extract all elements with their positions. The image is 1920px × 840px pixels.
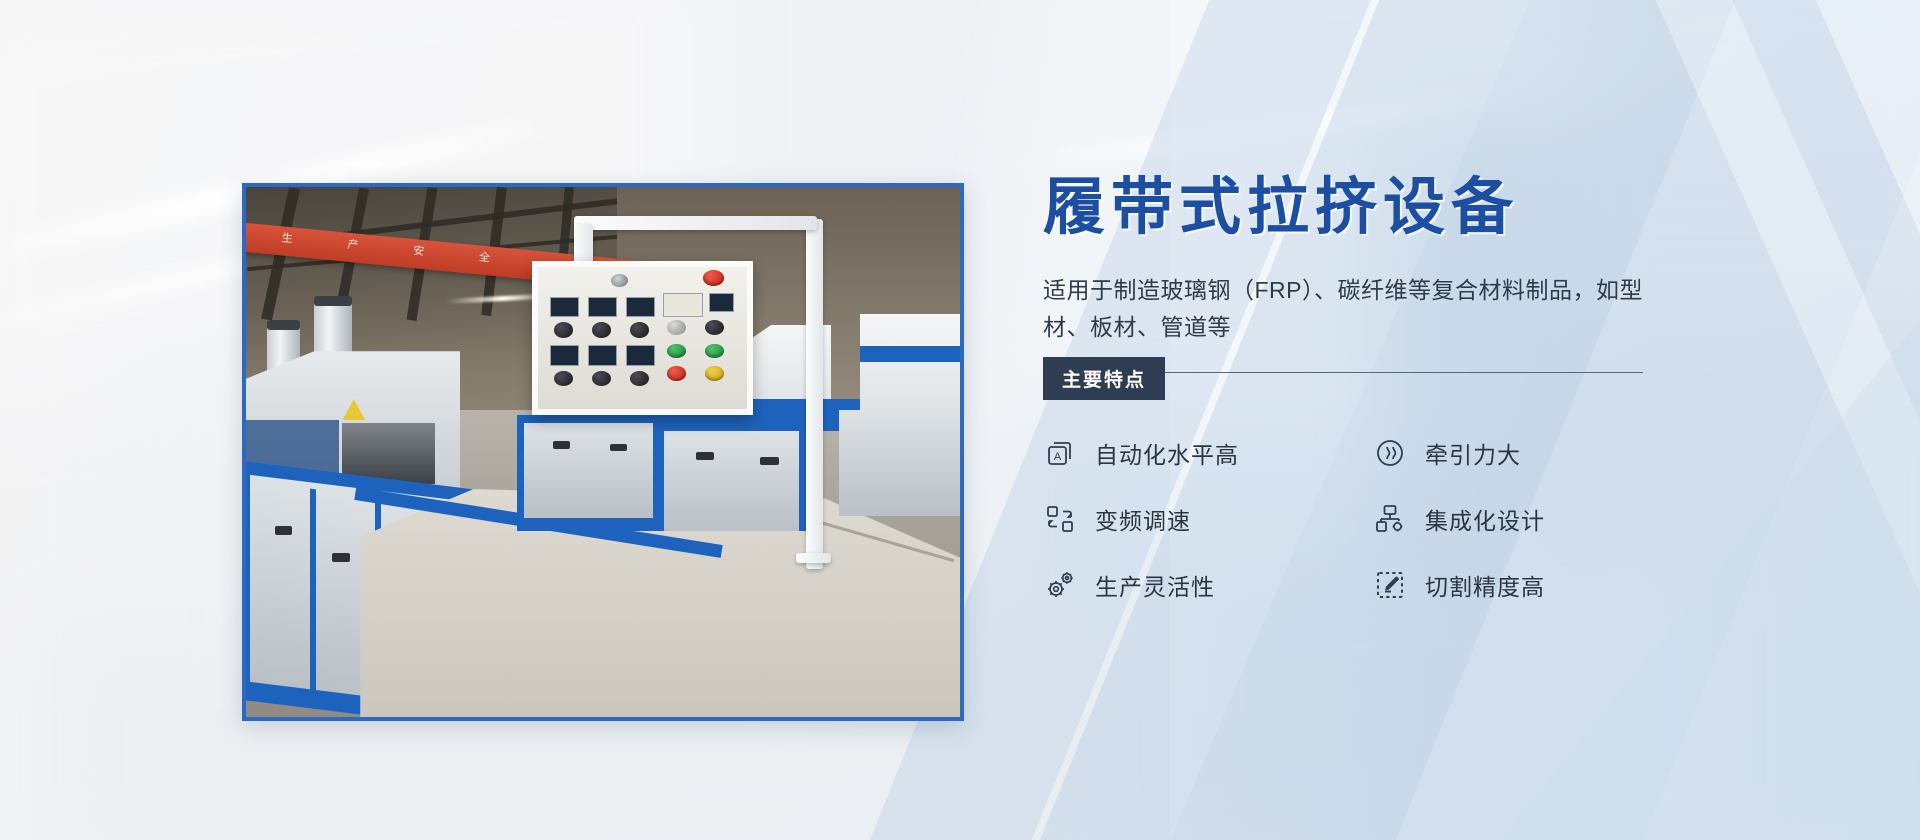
emergency-stop-button bbox=[703, 270, 724, 286]
list-item-label: 自动化水平高 bbox=[1095, 436, 1239, 470]
list-item[interactable]: 集成化设计 bbox=[1373, 502, 1703, 536]
control-panel bbox=[532, 261, 753, 415]
gantry-column bbox=[806, 219, 822, 569]
product-description: 适用于制造玻璃钢（FRP）、碳纤维等复合材料制品，如型材、板材、管道等 bbox=[1043, 272, 1643, 347]
gantry-foot bbox=[796, 553, 832, 564]
pen-dashed-box-icon bbox=[1373, 568, 1407, 602]
product-photo[interactable]: 生 产 安 全 bbox=[242, 183, 964, 721]
transform-nodes-icon bbox=[1043, 502, 1077, 536]
hero-text-column: 履带式拉挤设备 适用于制造玻璃钢（FRP）、碳纤维等复合材料制品，如型材、板材、… bbox=[1043, 175, 1683, 602]
heat-waves-circle-icon bbox=[1373, 436, 1407, 470]
list-item-label: 切割精度高 bbox=[1425, 568, 1545, 602]
list-item[interactable]: A 自动化水平高 bbox=[1043, 436, 1373, 470]
list-item[interactable]: 牵引力大 bbox=[1373, 436, 1703, 470]
list-item[interactable]: 切割精度高 bbox=[1373, 568, 1703, 602]
gantry-arm bbox=[574, 216, 817, 230]
feature-list: A 自动化水平高 牵引力大 bbox=[1043, 436, 1683, 602]
status-badge: 主要特点 bbox=[1043, 357, 1165, 400]
list-item-label: 牵引力大 bbox=[1425, 436, 1521, 470]
cabinet-right bbox=[839, 410, 960, 516]
gears-icon bbox=[1043, 568, 1077, 602]
cabinet-divider-1 bbox=[310, 489, 316, 702]
list-item-label: 生产灵活性 bbox=[1095, 568, 1215, 602]
list-item[interactable]: 生产灵活性 bbox=[1043, 568, 1373, 602]
list-item-label: 变频调速 bbox=[1095, 502, 1191, 536]
cabinet-doors-mid-2 bbox=[664, 431, 800, 532]
machine-far-right-band bbox=[860, 346, 960, 362]
cabinet-doors-mid bbox=[524, 423, 653, 518]
component-gear-icon bbox=[1373, 502, 1407, 536]
product-hero-banner: 生 产 安 全 bbox=[0, 0, 1920, 840]
list-item[interactable]: 变频调速 bbox=[1043, 502, 1373, 536]
product-photo-image: 生 产 安 全 bbox=[246, 187, 960, 717]
list-item-label: 集成化设计 bbox=[1425, 502, 1545, 536]
svg-text:A: A bbox=[1054, 451, 1062, 463]
letter-a-in-square-icon: A bbox=[1043, 436, 1077, 470]
page-title: 履带式拉挤设备 bbox=[1043, 175, 1683, 242]
